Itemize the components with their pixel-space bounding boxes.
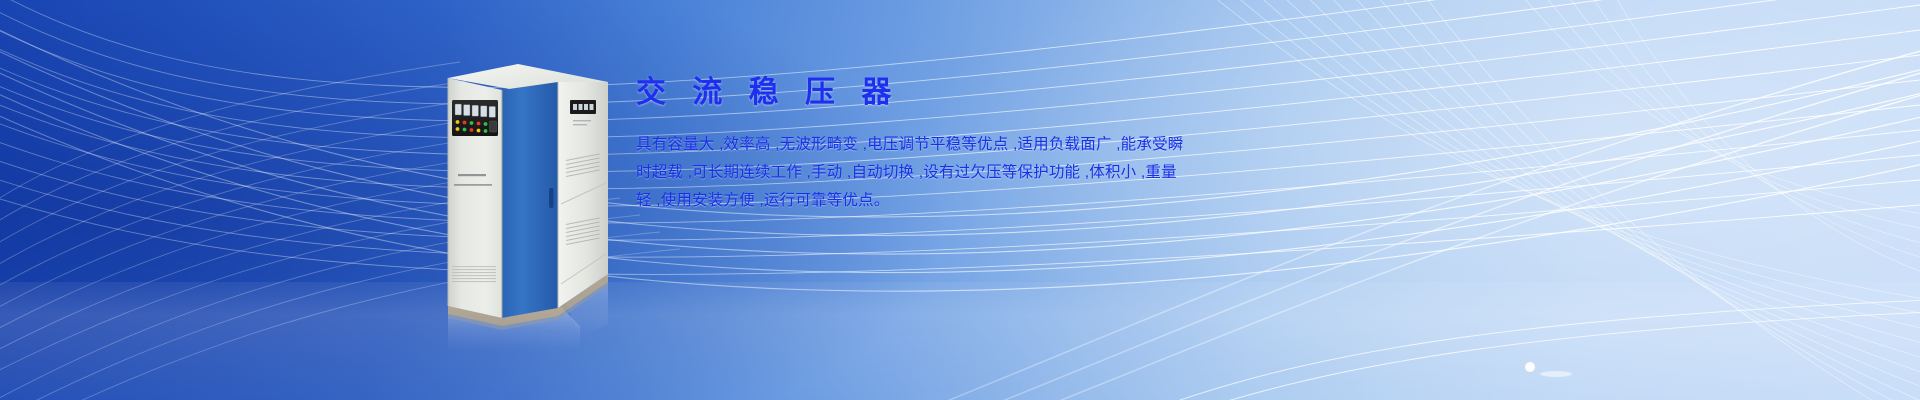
product-banner: 交 流 稳 压 器 具有容量大 ,效率高 ,无波形畸变 ,电压调节平稳等优点 ,…	[0, 0, 1920, 400]
door-handle	[549, 188, 554, 208]
product-image-voltage-stabilizer	[440, 38, 620, 348]
description-line-3: 轻 ,使用安装方便 ,运行可靠等优点。	[636, 187, 1196, 215]
banner-copy: 交 流 稳 压 器 具有容量大 ,效率高 ,无波形畸变 ,电压调节平稳等优点 ,…	[636, 76, 1196, 215]
product-description: 具有容量大 ,效率高 ,无波形畸变 ,电压调节平稳等优点 ,适用负载面广 ,能承…	[636, 131, 1196, 215]
description-line-2: 时超载 ,可长期连续工作 ,手动 ,自动切换 ,设有过欠压等保护功能 ,体积小 …	[636, 159, 1196, 187]
description-line-1: 具有容量大 ,效率高 ,无波形畸变 ,电压调节平稳等优点 ,适用负载面广 ,能承…	[636, 131, 1196, 159]
page-title: 交 流 稳 压 器	[636, 76, 1196, 109]
control-panel	[452, 100, 498, 136]
